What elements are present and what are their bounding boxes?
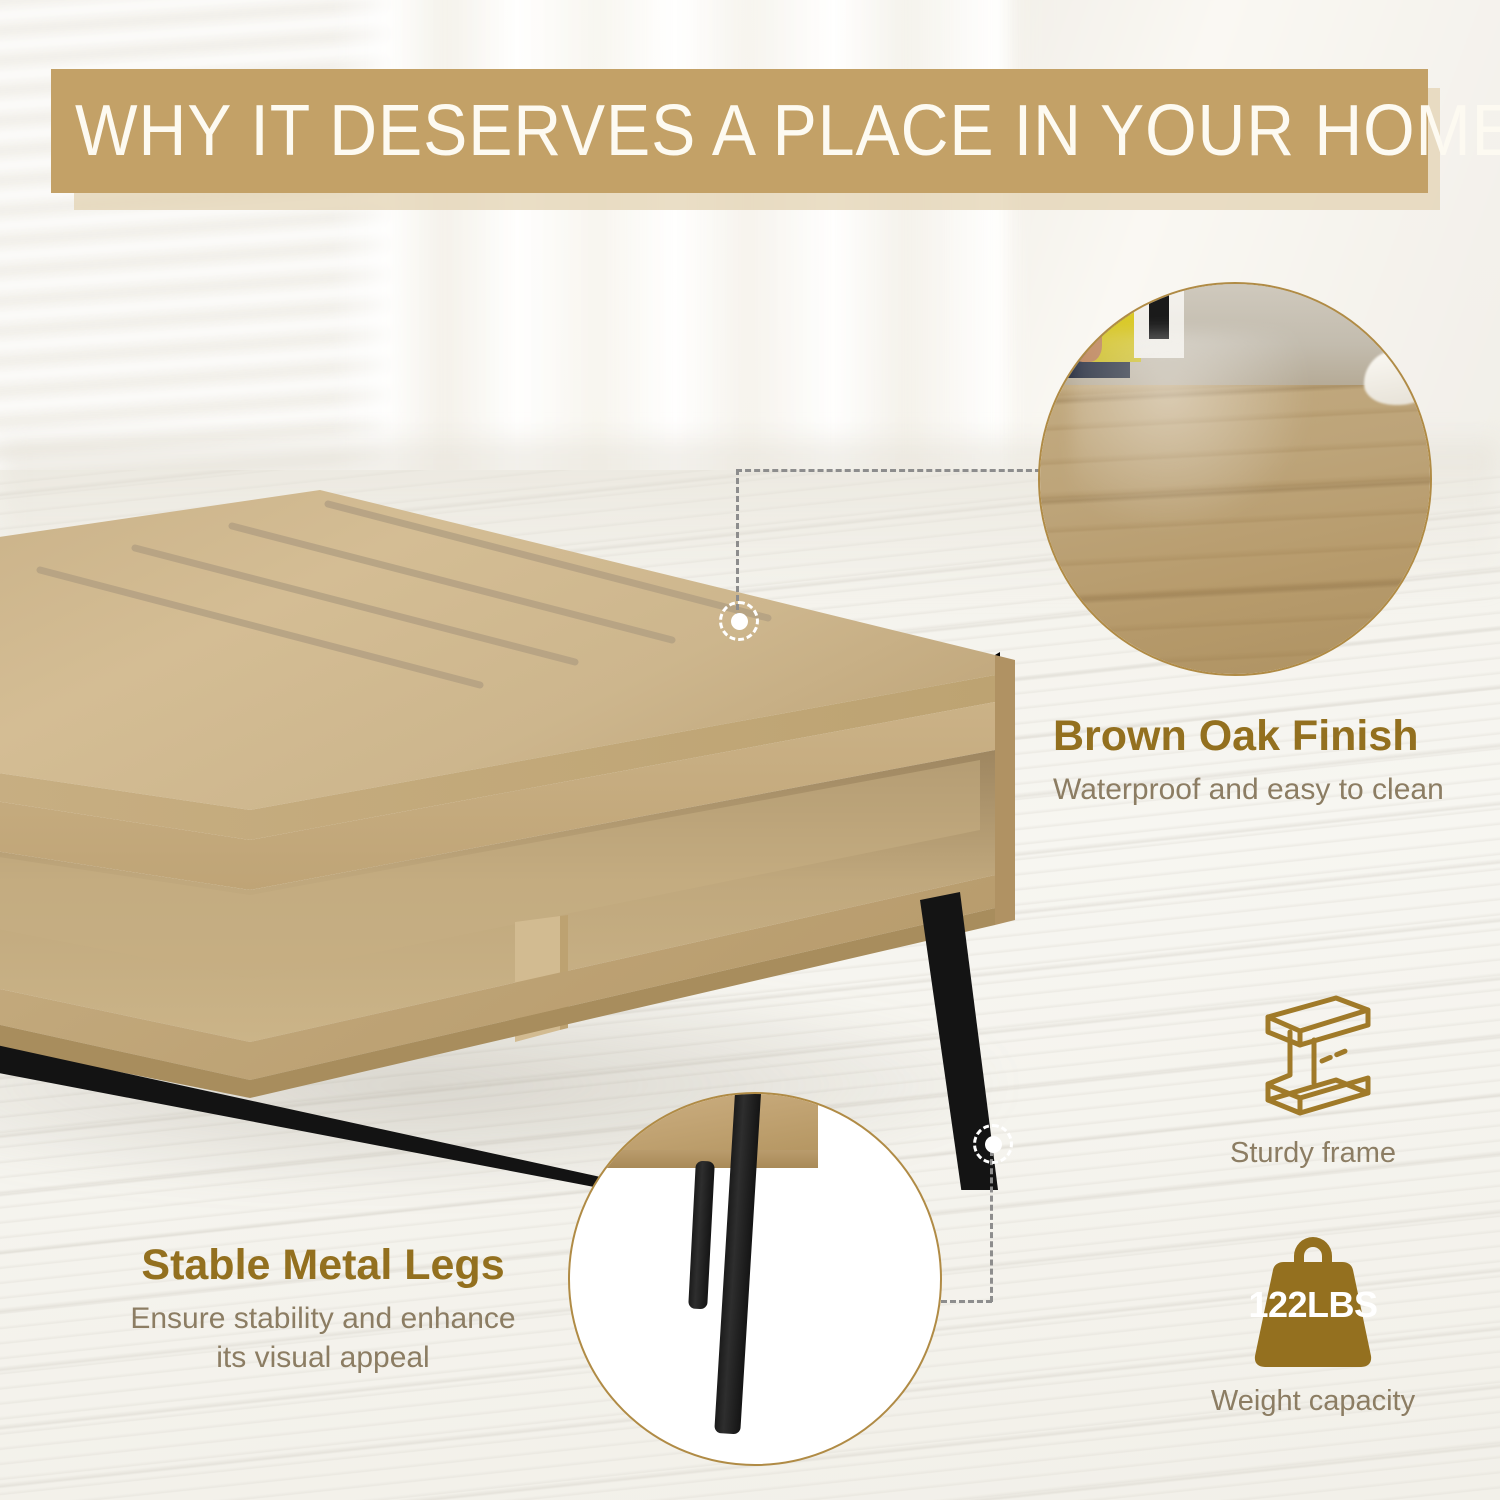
- weight-icon: 122LBS: [1178, 1233, 1448, 1369]
- feature-subtitle-line-2: its visual appeal: [128, 1339, 518, 1377]
- stat-sturdy-frame: Sturdy frame: [1178, 985, 1448, 1170]
- feature-title: Brown Oak Finish: [1053, 714, 1444, 759]
- weight-value: 122LBS: [1218, 1284, 1408, 1326]
- feature-metal-legs: Stable Metal Legs Ensure stability and e…: [128, 1243, 518, 1377]
- stat-label: Weight capacity: [1178, 1385, 1448, 1418]
- stat-weight-capacity: 122LBS Weight capacity: [1178, 1233, 1448, 1418]
- stat-label: Sturdy frame: [1178, 1137, 1448, 1170]
- feature-subtitle-line-1: Ensure stability and enhance: [128, 1300, 518, 1338]
- page-title: WHY IT DESERVES A PLACE IN YOUR HOME?: [75, 95, 1500, 167]
- wood-floor-closeup-circle: [1038, 282, 1432, 676]
- i-beam-icon: [1178, 985, 1448, 1121]
- feature-subtitle: Ensure stability and enhance its visual …: [128, 1300, 518, 1377]
- connector-oak-vertical: [736, 469, 739, 619]
- metal-leg-closeup-circle: [568, 1092, 942, 1466]
- zoom-floor-gloss: [1071, 331, 1313, 534]
- product-feature-infographic: WHY IT DESERVES A PLACE IN YOUR HOME? Br…: [0, 0, 1500, 1500]
- oak-coffee-table: [0, 430, 1050, 1190]
- feature-title: Stable Metal Legs: [128, 1243, 518, 1288]
- hotspot-marker-icon[interactable]: [719, 601, 759, 641]
- connector-legs-vertical: [990, 1150, 993, 1302]
- hotspot-marker-icon[interactable]: [973, 1124, 1013, 1164]
- header-banner: WHY IT DESERVES A PLACE IN YOUR HOME?: [51, 69, 1428, 193]
- feature-subtitle: Waterproof and easy to clean: [1053, 771, 1444, 809]
- feature-oak-finish: Brown Oak Finish Waterproof and easy to …: [1053, 714, 1444, 810]
- zoom-metal-leg-back: [688, 1160, 714, 1309]
- connector-oak-horizontal: [736, 469, 1041, 472]
- connector-legs-horizontal: [932, 1300, 992, 1303]
